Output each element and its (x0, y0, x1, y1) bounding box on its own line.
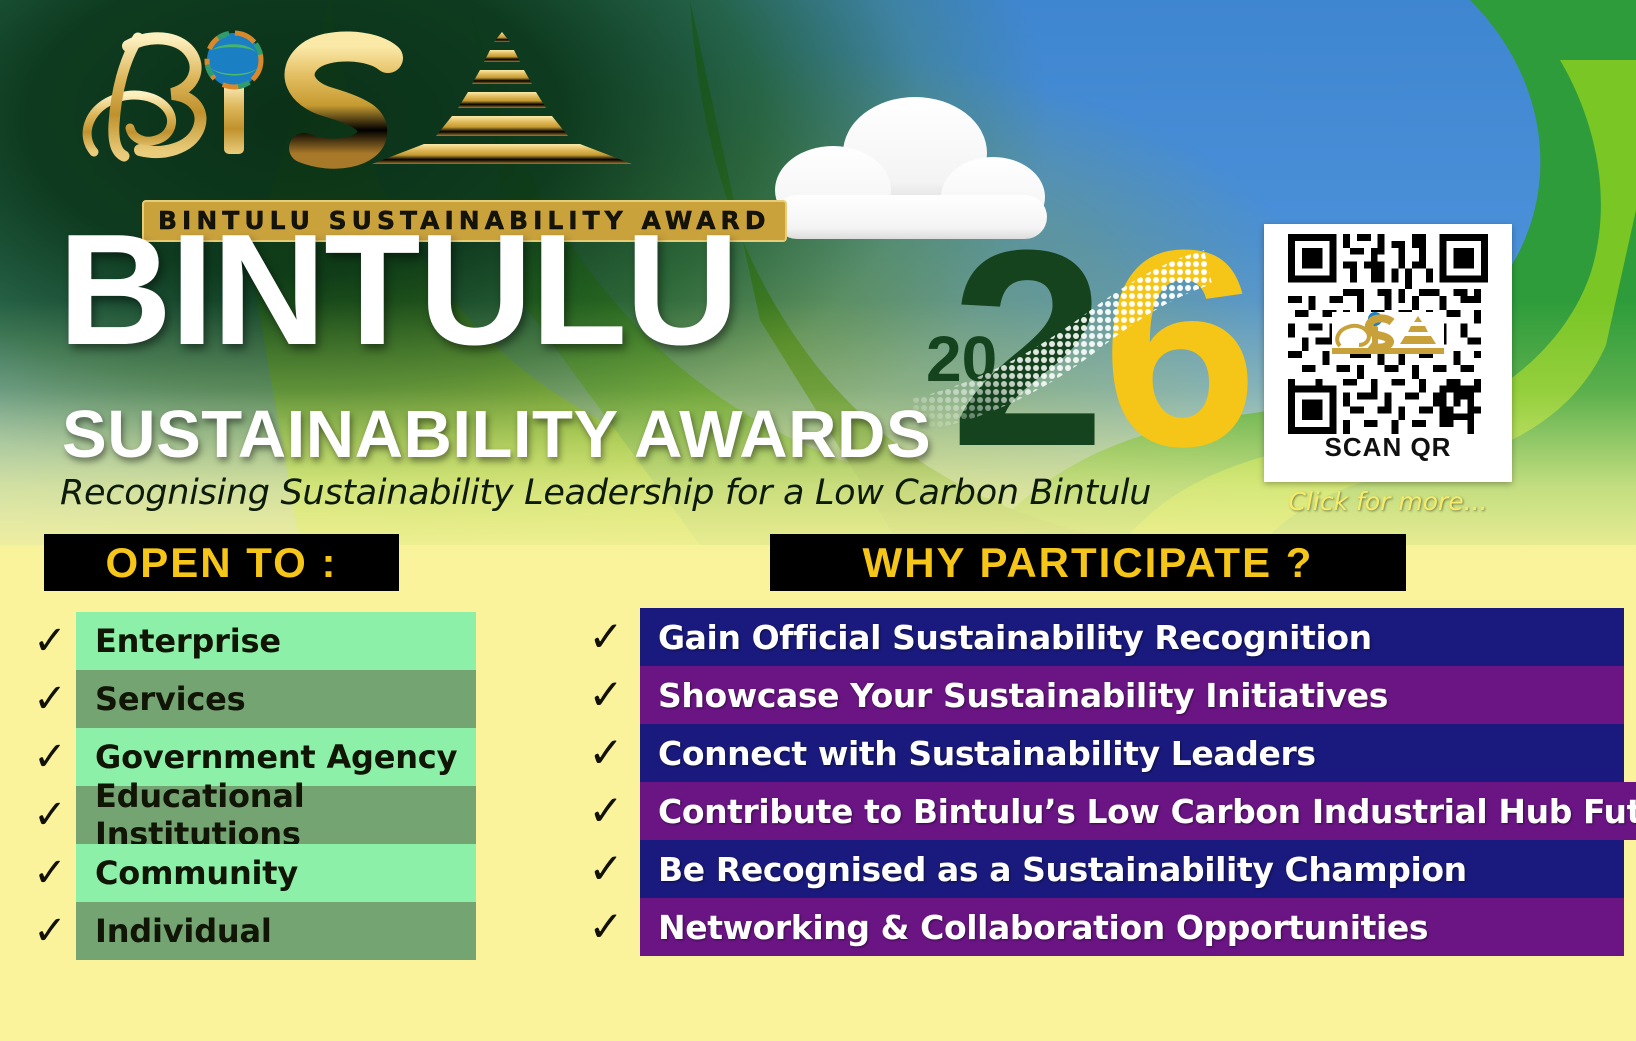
list-item[interactable]: ✓ Community (24, 844, 476, 902)
list-item[interactable]: ✓ Individual (24, 902, 476, 960)
year-2026-graphic: 2 6 20 (912, 236, 1212, 501)
check-icon: ✓ (572, 616, 640, 658)
section-header-open-to: OPEN TO : (44, 534, 399, 591)
section-title-open-to: OPEN TO : (106, 539, 338, 587)
page-subtitle: SUSTAINABILITY AWARDS (62, 396, 931, 473)
list-item-label: Community (95, 854, 298, 892)
list-item-band: Community (76, 844, 476, 902)
halftone-swoosh-icon (912, 236, 1212, 501)
list-item-label: Services (95, 680, 245, 718)
check-icon: ✓ (24, 737, 76, 777)
qr-code-card[interactable]: SCAN QR (1264, 224, 1512, 482)
list-item-band: Be Recognised as a Sustainability Champi… (640, 840, 1624, 898)
list-item-band: Networking & Collaboration Opportunities (640, 898, 1624, 956)
list-item[interactable]: ✓ Enterprise (24, 612, 476, 670)
check-icon: ✓ (572, 790, 640, 832)
check-icon: ✓ (24, 621, 76, 661)
bisa-logomark-icon (72, 24, 672, 174)
page-title: BINTULU (58, 218, 737, 363)
list-item[interactable]: ✓ Gain Official Sustainability Recogniti… (572, 608, 1624, 666)
list-item-band: Educational Institutions (76, 786, 476, 844)
open-to-list: ✓ Enterprise ✓ Services ✓ Government Age… (24, 612, 476, 960)
list-item-label: Enterprise (95, 622, 281, 660)
list-item[interactable]: ✓ Showcase Your Sustainability Initiativ… (572, 666, 1624, 724)
list-item[interactable]: ✓ Networking & Collaboration Opportuniti… (572, 898, 1624, 956)
list-item[interactable]: ✓ Educational Institutions (24, 786, 476, 844)
check-icon: ✓ (24, 795, 76, 835)
list-item-band: Showcase Your Sustainability Initiatives (640, 666, 1624, 724)
list-item-band: Enterprise (76, 612, 476, 670)
why-participate-list: ✓ Gain Official Sustainability Recogniti… (572, 608, 1624, 956)
list-item[interactable]: ✓ Be Recognised as a Sustainability Cham… (572, 840, 1624, 898)
check-icon: ✓ (572, 848, 640, 890)
list-item-label: Networking & Collaboration Opportunities (658, 908, 1428, 947)
check-icon: ✓ (572, 732, 640, 774)
section-header-why-participate: WHY PARTICIPATE ? (770, 534, 1406, 591)
check-icon: ✓ (572, 674, 640, 716)
list-item-band: Services (76, 670, 476, 728)
bisa-logo: BINTULU SUSTAINABILITY AWARD (72, 24, 672, 214)
check-icon: ✓ (24, 911, 76, 951)
list-item-band: Contribute to Bintulu’s Low Carbon Indus… (640, 782, 1636, 840)
list-item-label: Educational Institutions (95, 777, 476, 853)
list-item-band: Connect with Sustainability Leaders (640, 724, 1624, 782)
check-icon: ✓ (24, 679, 76, 719)
list-item-label: Showcase Your Sustainability Initiatives (658, 676, 1388, 715)
tagline: Recognising Sustainability Leadership fo… (60, 473, 1151, 513)
list-item[interactable]: ✓ Services (24, 670, 476, 728)
qr-label: SCAN QR (1264, 432, 1512, 463)
poster-root: BINTULU SUSTAINABILITY AWARD BINTULU SUS… (0, 0, 1636, 1041)
list-item-band: Individual (76, 902, 476, 960)
list-item-band: Gain Official Sustainability Recognition (640, 608, 1624, 666)
check-icon: ✓ (572, 906, 640, 948)
check-icon: ✓ (24, 853, 76, 893)
list-item[interactable]: ✓ Connect with Sustainability Leaders (572, 724, 1624, 782)
qr-click-hint[interactable]: Click for more... (1264, 487, 1512, 516)
list-item[interactable]: ✓ Contribute to Bintulu’s Low Carbon Ind… (572, 782, 1624, 840)
list-item-label: Gain Official Sustainability Recognition (658, 618, 1372, 657)
list-item-label: Contribute to Bintulu’s Low Carbon Indus… (658, 792, 1636, 831)
section-title-why-participate: WHY PARTICIPATE ? (863, 539, 1314, 587)
list-item-label: Be Recognised as a Sustainability Champi… (658, 850, 1467, 889)
list-item-label: Connect with Sustainability Leaders (658, 734, 1316, 773)
list-item-label: Individual (95, 912, 272, 950)
list-item-label: Government Agency (95, 738, 457, 776)
qr-embedded-logo-icon (1332, 312, 1444, 354)
